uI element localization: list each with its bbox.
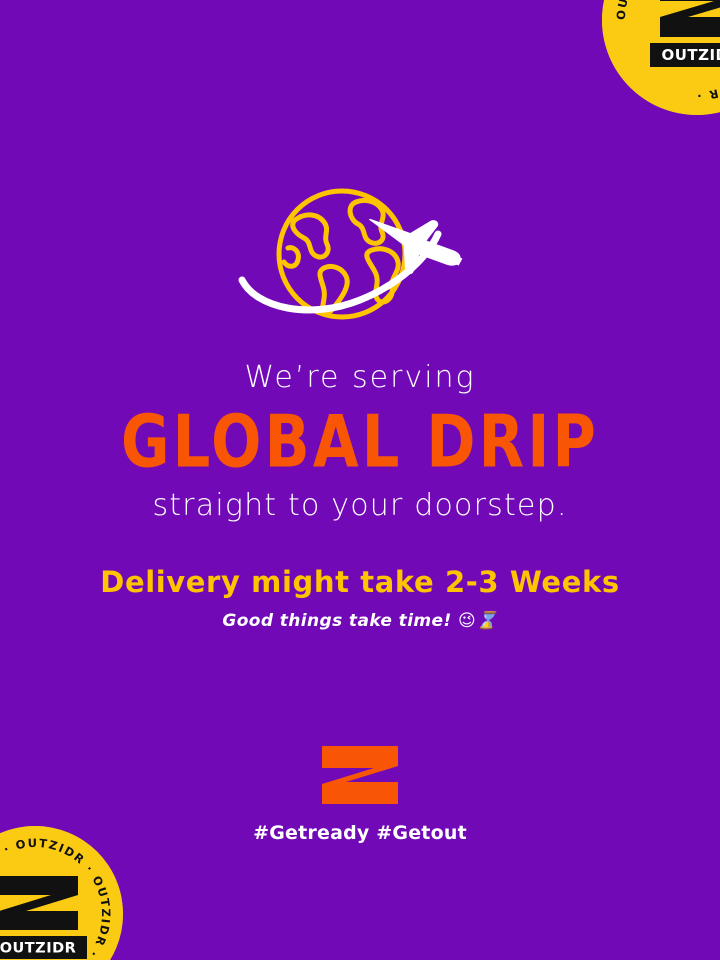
subline-text: straight to your doorstep. bbox=[0, 490, 720, 522]
poster-footer: #Getready #Getout bbox=[0, 744, 720, 844]
badge-wordmark-bar: OUTZIDR bbox=[0, 936, 87, 959]
globe-continents-icon bbox=[284, 200, 398, 313]
badge-wordmark-bar: OUTZIDR bbox=[650, 43, 720, 67]
delivery-note-text: Delivery might take 2-3 Weeks bbox=[0, 565, 720, 599]
promo-poster: OUTZIDR · OUTZIDR · OUTZIDR · OUTZIDR · … bbox=[0, 0, 720, 960]
outzidr-stamp-top-right: OUTZIDR · OUTZIDR · OUTZIDR · OUTZIDR · … bbox=[602, 0, 720, 115]
headline-text: GLOBAL DRIP bbox=[0, 406, 720, 478]
globe-airplane-illustration bbox=[232, 176, 488, 342]
tagline-text: Good things take time! 😉⌛ bbox=[0, 611, 720, 631]
kicker-text: We’re serving bbox=[0, 362, 720, 394]
outzidr-stamp-bottom-left: OUTZIDR · OUTZIDR · OUTZIDR · OUTZIDR · … bbox=[0, 826, 123, 960]
poster-copy: We’re serving GLOBAL DRIP straight to yo… bbox=[0, 362, 720, 631]
z-logo-icon bbox=[320, 744, 400, 806]
badge-wordmark-text: OUTZIDR bbox=[661, 46, 720, 64]
badge-wordmark-text: OUTZIDR bbox=[0, 941, 76, 957]
hashtags-text: #Getready #Getout bbox=[0, 822, 720, 844]
